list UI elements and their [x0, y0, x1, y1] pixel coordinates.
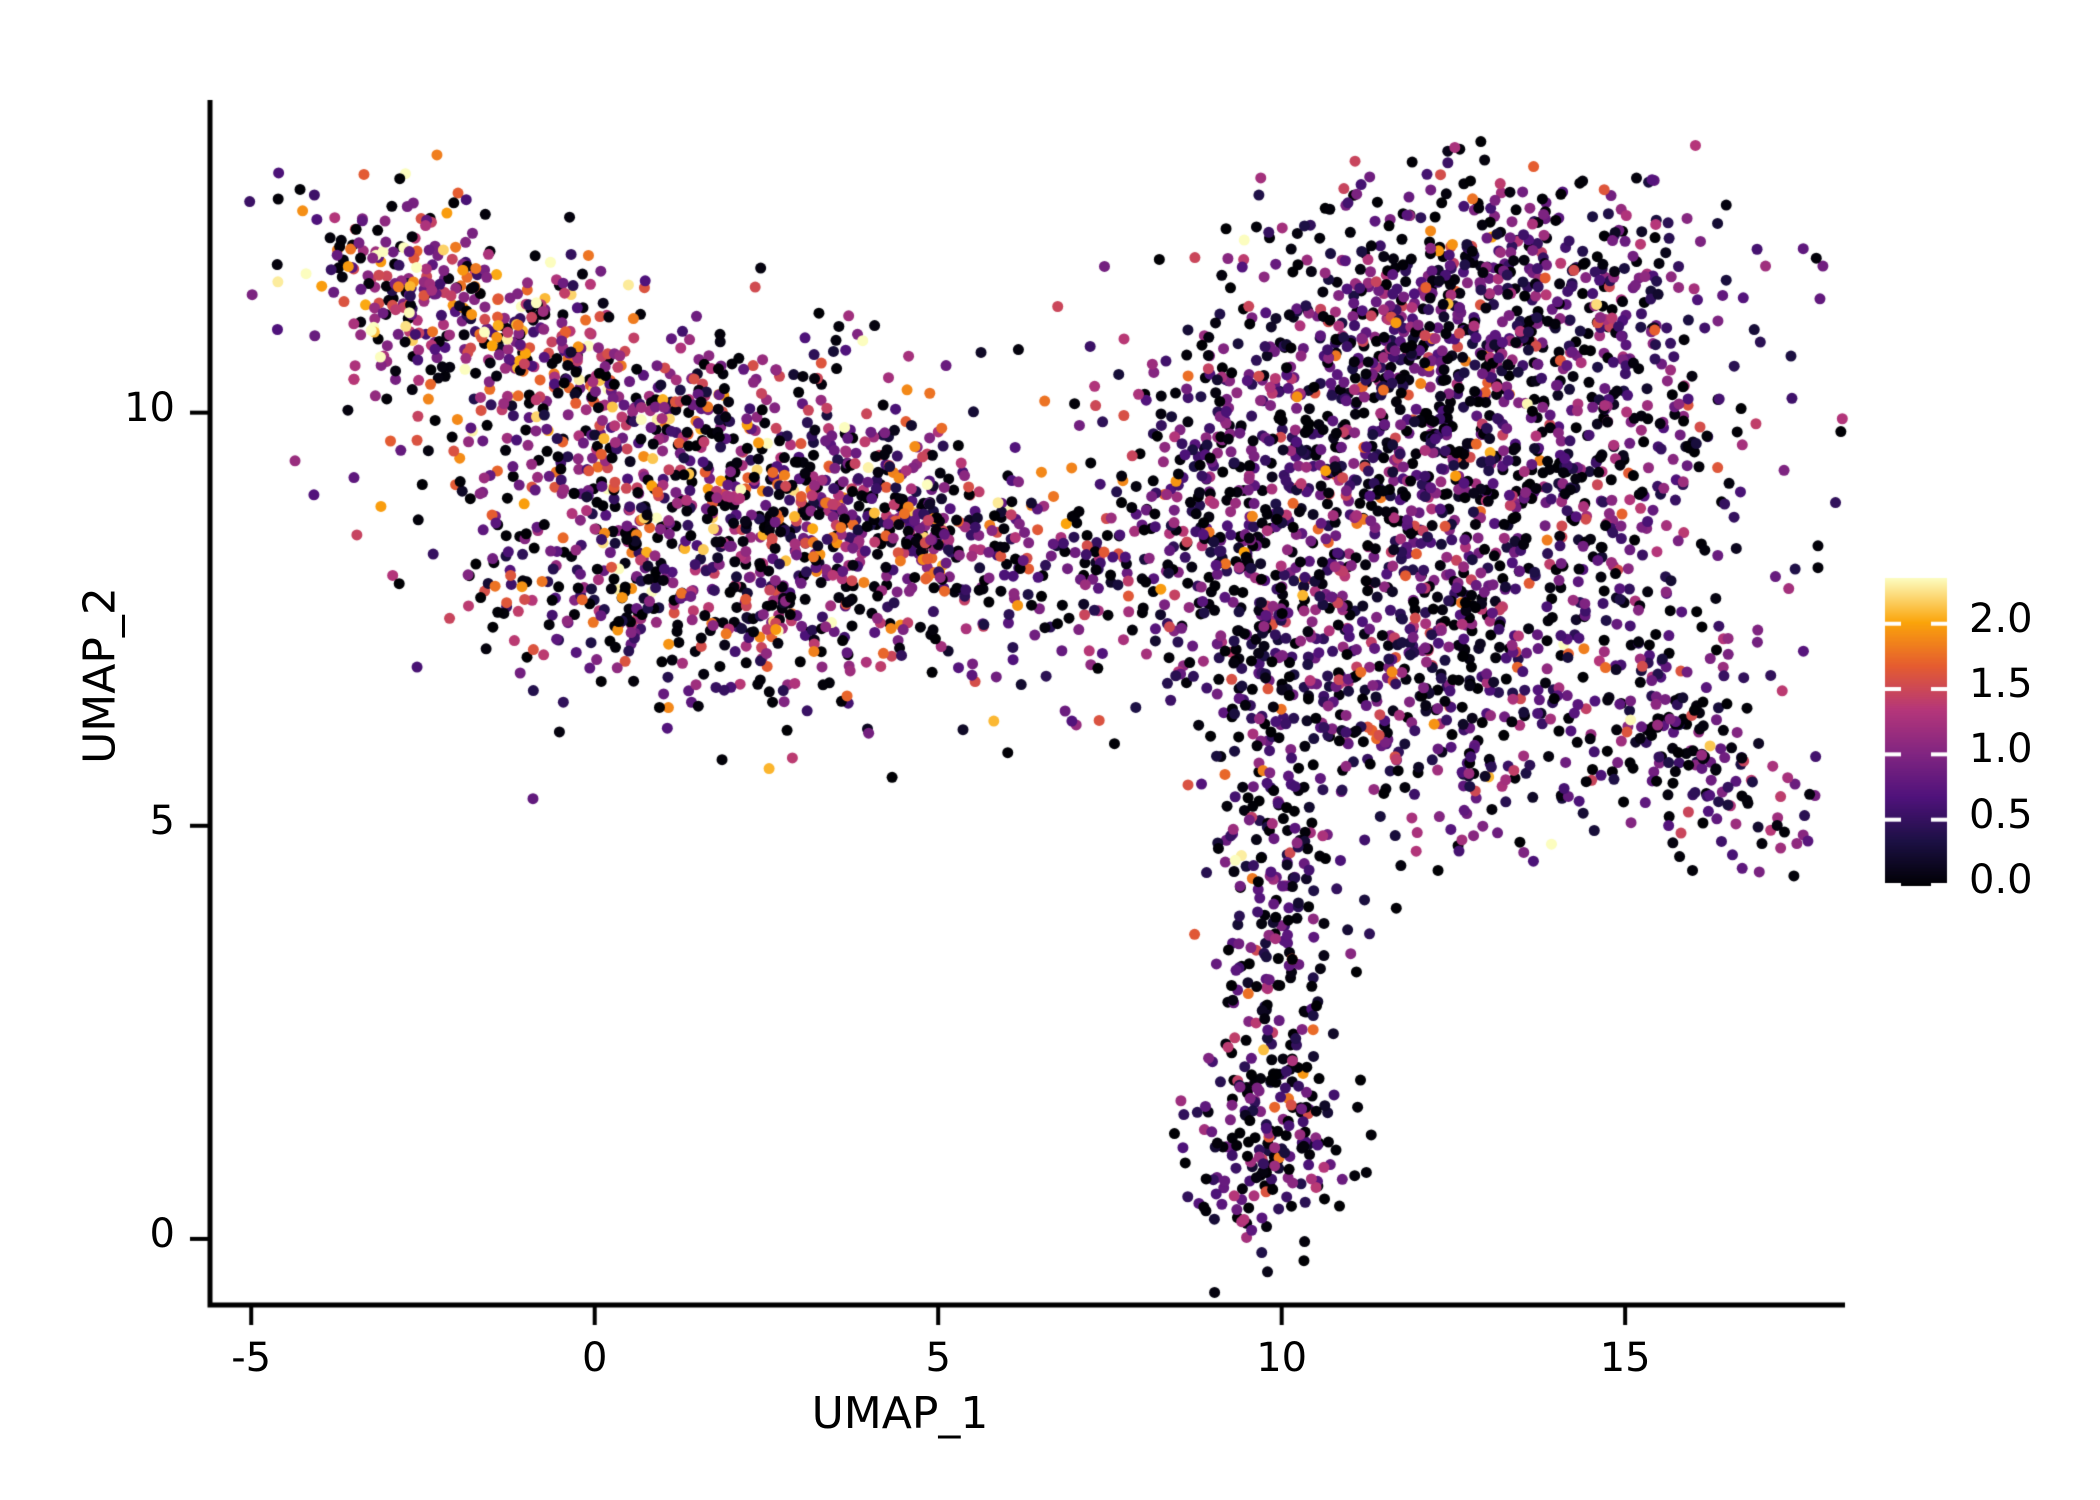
colorbar-tick-label: 1.5 [1969, 661, 2033, 707]
colorbar-tick-label: 1.0 [1969, 726, 2033, 772]
y-tick-label: 0 [20, 1211, 175, 1257]
scatter-plot-canvas [0, 0, 2100, 1500]
y-axis-label: UMAP_2 [75, 376, 126, 976]
y-tick-label: 10 [20, 385, 175, 431]
x-axis-label: UMAP_1 [400, 1388, 1400, 1439]
x-tick-label: 5 [878, 1335, 998, 1381]
colorbar-tick-label: 0.0 [1969, 857, 2033, 903]
x-tick-label: 0 [535, 1335, 655, 1381]
x-tick-label: -5 [191, 1335, 311, 1381]
colorbar-tick-label: 0.5 [1969, 792, 2033, 838]
colorbar-tick-label: 2.0 [1969, 596, 2033, 642]
figure-canvas: ACAP2 UMAP_1 UMAP_2 -5051015 0510 0.00.5… [0, 0, 2100, 1500]
y-tick-label: 5 [20, 798, 175, 844]
x-tick-label: 15 [1565, 1335, 1685, 1381]
x-tick-label: 10 [1222, 1335, 1342, 1381]
